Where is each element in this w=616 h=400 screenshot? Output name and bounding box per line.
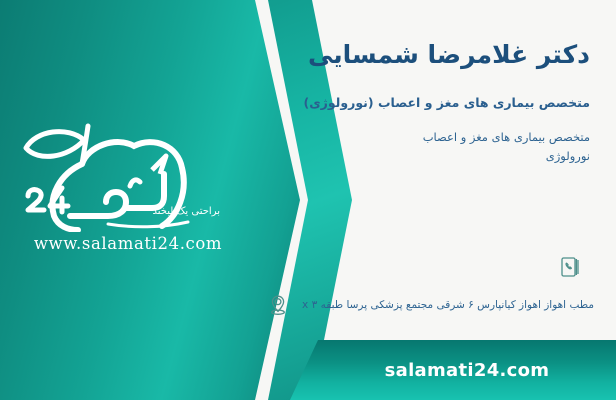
doctor-specialty-headline: متخصص بیماری های مغز و اعصاب (نورولوژی) [160,95,590,110]
description-line: نورولوژی [160,147,590,166]
location-pin-icon [263,290,293,320]
business-card: براحتی یک لبخند www.salamati24.com دکتر … [0,0,616,400]
doctor-name: دکتر غلامرضا شمسایی [160,40,590,69]
contact-address-value: مطب اهواز اهواز کیانپارس ۶ شرقی مجتمع پز… [302,299,594,311]
brand-tagline: براحتی یک لبخند [153,206,221,217]
contact-row-address[interactable]: مطب اهواز اهواز کیانپارس ۶ شرقی مجتمع پز… [263,290,594,320]
brand-website-logo: www.salamati24.com [12,234,244,253]
doctor-description: متخصص بیماری های مغز و اعصاب نورولوژی [160,128,590,166]
footer-website[interactable]: salamati24.com [318,340,616,400]
contact-row-phone[interactable] [555,252,594,282]
phone-book-icon [555,252,585,282]
description-line: متخصص بیماری های مغز و اعصاب [160,128,590,147]
